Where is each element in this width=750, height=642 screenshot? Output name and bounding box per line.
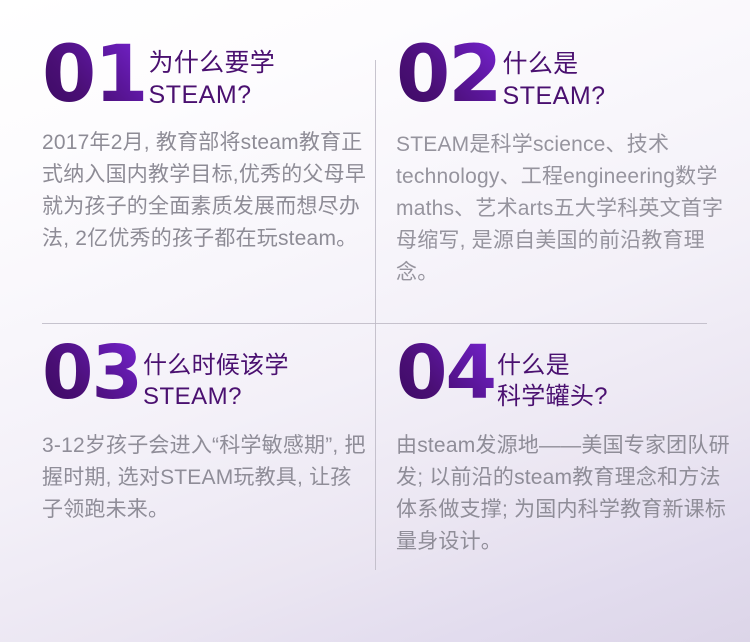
qa-block-04-head: 04 什么是 科学罐头? bbox=[396, 338, 736, 412]
qa-block-02-title: 什么是 STEAM? bbox=[503, 38, 606, 112]
qa-block-01-body: 2017年2月, 教育部将steam教育正式纳入国内教学目标,优秀的父母早就为孩… bbox=[42, 127, 372, 255]
qa-block-01-title-line1: 为什么要学 bbox=[149, 47, 276, 79]
qa-block-02: 02 什么是 STEAM? STEAM是科学science、技术technolo… bbox=[396, 38, 736, 288]
qa-block-04: 04 什么是 科学罐头? 由steam发源地——美国专家团队研发; 以前沿的st… bbox=[396, 338, 736, 558]
vertical-divider bbox=[375, 60, 376, 570]
qa-block-02-numeral: 02 bbox=[396, 38, 501, 113]
qa-block-02-title-line2: STEAM? bbox=[503, 80, 606, 112]
qa-block-01: 01 为什么要学 STEAM? 2017年2月, 教育部将steam教育正式纳入… bbox=[42, 38, 372, 255]
steam-infographic-poster: 01 为什么要学 STEAM? 2017年2月, 教育部将steam教育正式纳入… bbox=[0, 0, 750, 642]
qa-block-03-title-line2: STEAM? bbox=[143, 382, 289, 413]
qa-block-02-title-line1: 什么是 bbox=[503, 48, 606, 80]
qa-block-02-body: STEAM是科学science、技术technology、工程engineeri… bbox=[396, 129, 736, 289]
qa-block-03-title: 什么时候该学 STEAM? bbox=[143, 338, 289, 412]
qa-block-03-numeral: 03 bbox=[42, 338, 141, 409]
qa-block-01-title: 为什么要学 STEAM? bbox=[149, 38, 276, 111]
qa-block-04-title-line1: 什么是 bbox=[497, 351, 608, 382]
qa-block-04-numeral: 04 bbox=[396, 338, 495, 409]
qa-block-03-body: 3-12岁孩子会进入“科学敏感期”, 把握时期, 选对STEAM玩教具, 让孩子… bbox=[42, 430, 372, 526]
qa-block-04-title-line2: 科学罐头? bbox=[497, 382, 608, 413]
qa-block-01-numeral: 01 bbox=[42, 38, 147, 113]
qa-block-02-head: 02 什么是 STEAM? bbox=[396, 38, 736, 113]
qa-block-04-body: 由steam发源地——美国专家团队研发; 以前沿的steam教育理念和方法体系做… bbox=[396, 430, 736, 558]
qa-block-01-head: 01 为什么要学 STEAM? bbox=[42, 38, 372, 113]
qa-block-04-title: 什么是 科学罐头? bbox=[497, 338, 608, 412]
qa-block-03: 03 什么时候该学 STEAM? 3-12岁孩子会进入“科学敏感期”, 把握时期… bbox=[42, 338, 372, 526]
qa-block-03-title-line1: 什么时候该学 bbox=[143, 351, 289, 382]
qa-block-03-head: 03 什么时候该学 STEAM? bbox=[42, 338, 372, 412]
qa-block-01-title-line2: STEAM? bbox=[149, 79, 276, 111]
